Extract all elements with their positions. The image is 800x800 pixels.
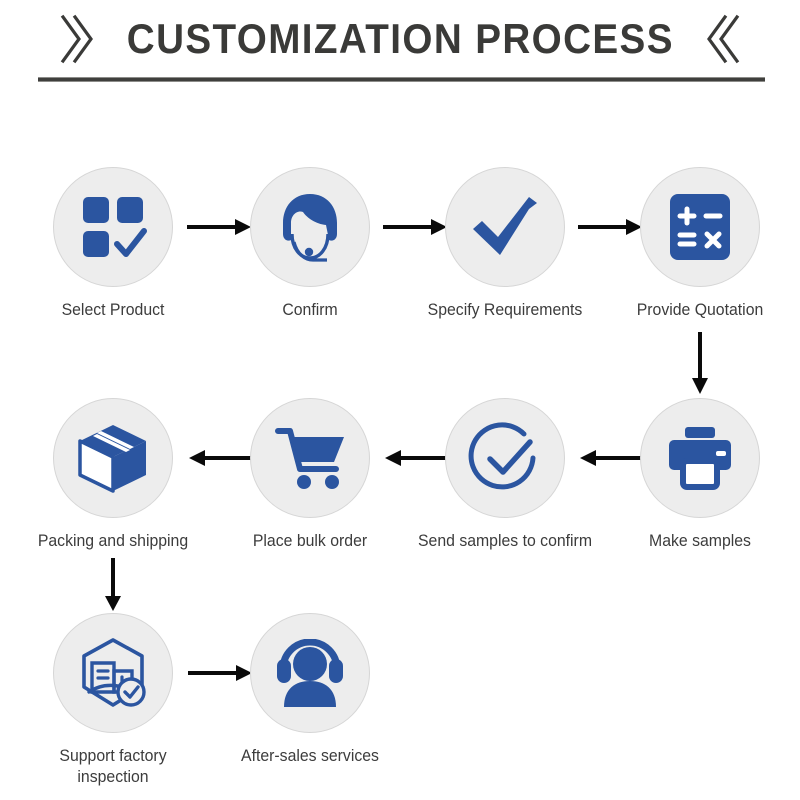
arrow-packing-to-inspection <box>101 556 125 614</box>
shopping-cart-icon <box>274 425 346 491</box>
step-select-product[interactable]: Select Product <box>13 167 213 320</box>
step-label: Provide Quotation <box>607 299 793 320</box>
check-circle-icon <box>468 421 542 495</box>
step-send-samples-to-confirm[interactable]: Send samples to confirm <box>405 398 605 551</box>
step-specify-requirements[interactable]: Specify Requirements <box>405 167 605 320</box>
step-icon-circle <box>250 167 370 287</box>
package-box-icon <box>77 422 149 494</box>
step-label: Support factory inspection <box>20 745 206 787</box>
headset-person-icon <box>273 639 347 707</box>
printer-icon <box>663 425 737 491</box>
step-label: Place bulk order <box>217 530 403 551</box>
step-icon-circle <box>250 398 370 518</box>
checkmark-icon <box>469 191 541 263</box>
step-icon-circle <box>640 167 760 287</box>
step-label: Confirm <box>217 299 403 320</box>
step-label: Make samples <box>607 530 793 551</box>
step-label: Specify Requirements <box>412 299 598 320</box>
step-icon-circle <box>53 167 173 287</box>
grid-check-icon <box>79 193 147 261</box>
step-place-bulk-order[interactable]: Place bulk order <box>210 398 410 551</box>
step-icon-circle <box>53 398 173 518</box>
step-icon-circle <box>250 613 370 733</box>
step-after-sales-services[interactable]: After-sales services <box>210 613 410 766</box>
step-icon-circle <box>640 398 760 518</box>
factory-inspection-shield-icon <box>76 637 150 709</box>
arrow-quotation-to-make-samples <box>688 330 712 398</box>
step-support-factory-inspection[interactable]: Support factory inspection <box>13 613 213 787</box>
step-provide-quotation[interactable]: Provide Quotation <box>600 167 800 320</box>
process-flow: Select Product Confirm Specify Requireme… <box>0 0 800 800</box>
step-label: Packing and shipping <box>20 530 206 551</box>
support-agent-icon <box>273 190 347 264</box>
step-confirm[interactable]: Confirm <box>210 167 410 320</box>
step-icon-circle <box>445 398 565 518</box>
step-label: After-sales services <box>217 745 403 766</box>
calculator-icon <box>668 192 732 262</box>
step-icon-circle <box>445 167 565 287</box>
step-label: Select Product <box>20 299 206 320</box>
step-packing-and-shipping[interactable]: Packing and shipping <box>13 398 213 551</box>
step-label: Send samples to confirm <box>412 530 598 551</box>
step-make-samples[interactable]: Make samples <box>600 398 800 551</box>
step-icon-circle <box>53 613 173 733</box>
